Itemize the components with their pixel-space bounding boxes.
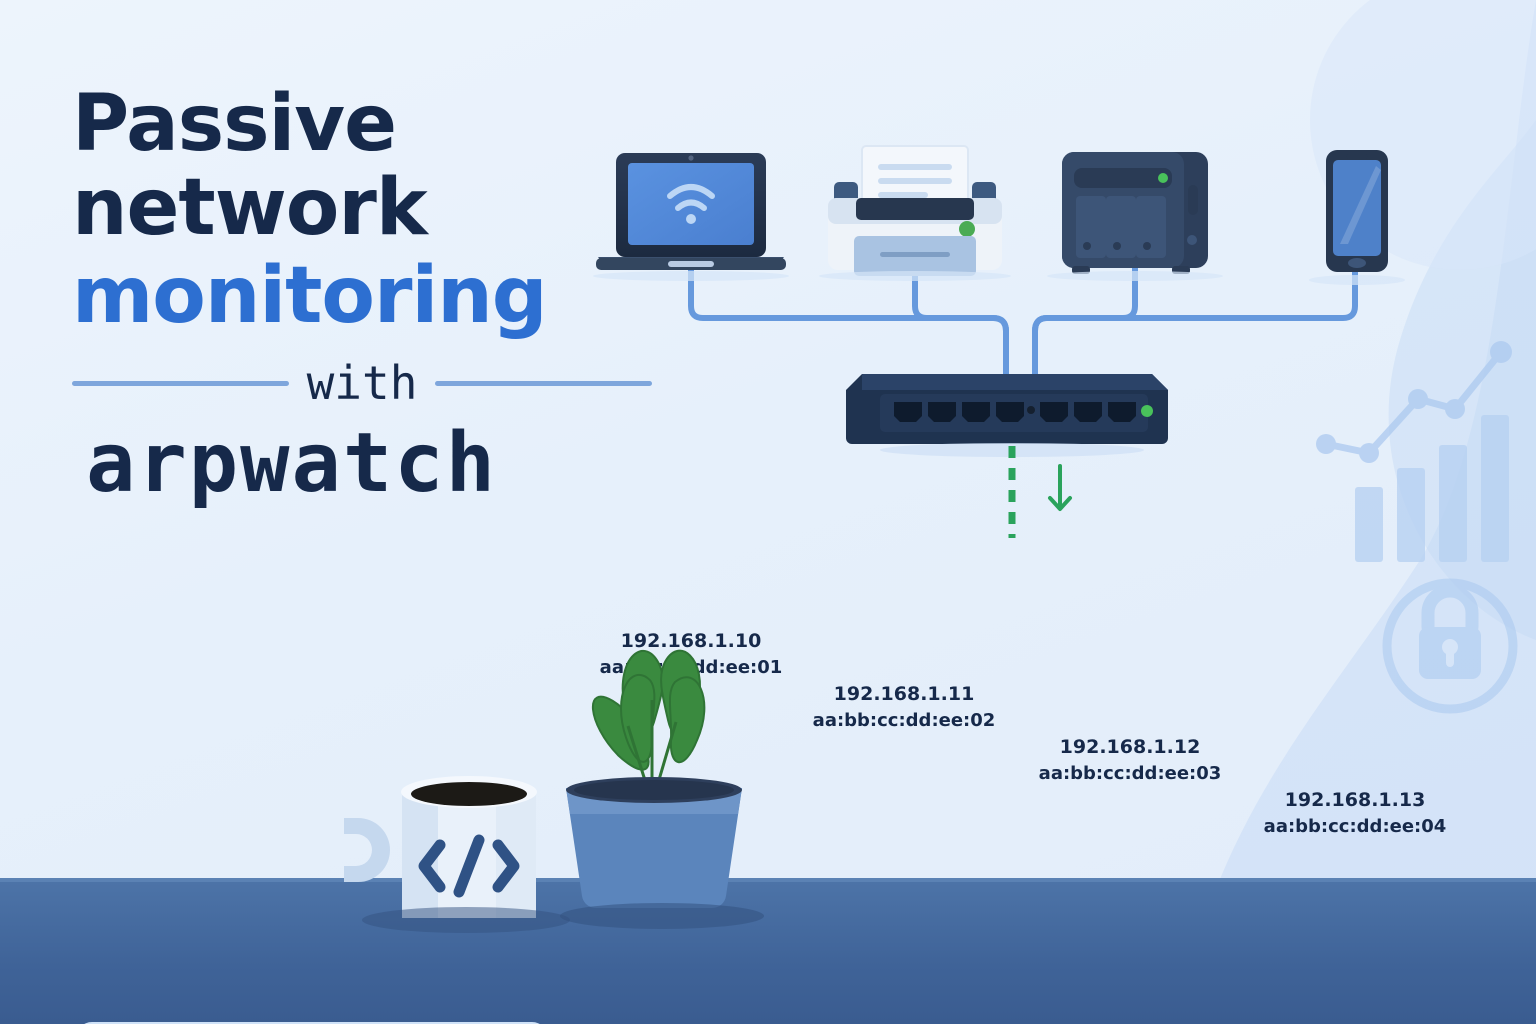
coffee-mug-icon [344,776,570,933]
potted-plant-icon [560,651,764,929]
poster-canvas: Passive network monitoring with arpwatch… [0,0,1536,1024]
desk-objects [0,0,1536,1024]
